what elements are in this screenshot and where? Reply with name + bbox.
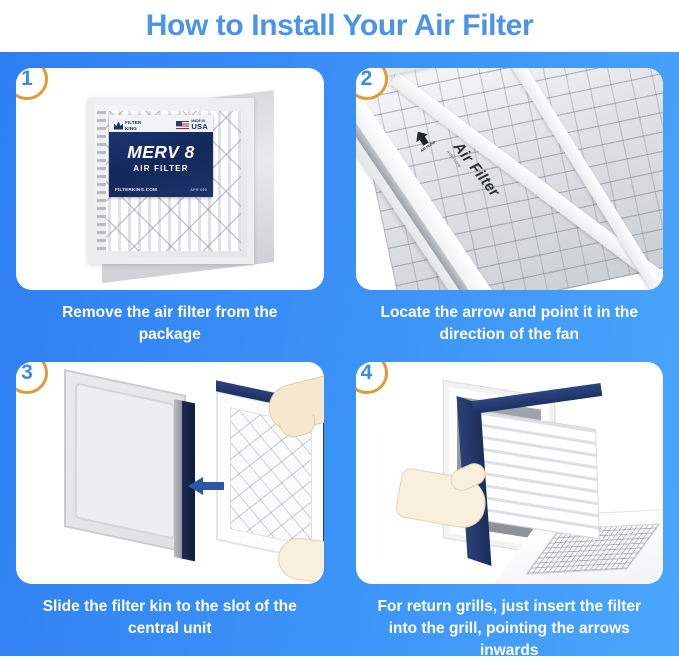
air-filter-product-photo: FILTER KING MADE IN USA bbox=[88, 90, 274, 262]
usa-flag-icon bbox=[176, 121, 189, 129]
step-2-illustration: AIR FLOW Air Filter AIRFLOW bbox=[356, 68, 664, 290]
step-1-illustration: FILTER KING MADE IN USA bbox=[16, 68, 324, 290]
apr-label: APR 650 bbox=[190, 188, 207, 192]
steps-grid: FILTER KING MADE IN USA bbox=[0, 52, 679, 656]
brand-line-1: FILTER bbox=[125, 120, 141, 125]
header-band: How to Install Your Air Filter bbox=[0, 0, 679, 52]
step-4-caption: For return grills, just insert the filte… bbox=[356, 596, 664, 662]
step-3-illustration bbox=[16, 362, 324, 584]
central-unit-slot bbox=[182, 401, 195, 562]
product-label: FILTER KING MADE IN USA bbox=[109, 115, 213, 197]
filter-side-ribs bbox=[97, 111, 106, 251]
page-title: How to Install Your Air Filter bbox=[146, 11, 533, 41]
label-header-strip: FILTER KING MADE IN USA bbox=[109, 115, 213, 132]
return-grill-louvers bbox=[480, 410, 600, 539]
filter-king-logo: FILTER KING bbox=[114, 120, 141, 131]
website-label: FILTERKING.COM bbox=[115, 187, 157, 192]
label-footer-strip: FILTERKING.COM APR 650 bbox=[109, 187, 213, 192]
made-in-usa-badge: MADE IN USA bbox=[176, 120, 208, 131]
filter-corner-photo: AIR FLOW Air Filter AIRFLOW bbox=[356, 68, 664, 290]
crown-icon bbox=[114, 122, 123, 130]
country-label: USA bbox=[191, 123, 208, 131]
step-4-card: 4 bbox=[356, 362, 664, 584]
step-4-illustration bbox=[356, 362, 664, 584]
made-in-usa-text: MADE IN USA bbox=[191, 120, 208, 131]
infographic-root: How to Install Your Air Filter bbox=[0, 0, 679, 656]
step-2-card: AIR FLOW Air Filter AIRFLOW 2 bbox=[356, 68, 664, 290]
filter-front-face: FILTER KING MADE IN USA bbox=[88, 98, 254, 264]
step-1-caption: Remove the air filter from the package bbox=[16, 302, 324, 346]
brand-name: FILTER KING bbox=[125, 120, 141, 131]
product-type-label: AIR FILTER bbox=[109, 165, 213, 173]
step-4: 4 For return grills, just insert the fil… bbox=[340, 346, 679, 662]
merv-rating: MERV 8 bbox=[109, 144, 213, 162]
step-3-caption: Slide the filter kin to the slot of the … bbox=[16, 596, 324, 640]
step-1: FILTER KING MADE IN USA bbox=[0, 52, 340, 346]
step-1-card: FILTER KING MADE IN USA bbox=[16, 68, 324, 290]
central-unit-body bbox=[64, 369, 186, 553]
step-2-caption: Locate the arrow and point it in the dir… bbox=[356, 302, 664, 346]
step-3-card: 3 bbox=[16, 362, 324, 584]
central-unit-panel bbox=[75, 382, 175, 539]
brand-line-2: KING bbox=[125, 126, 137, 131]
step-3: 3 Slide the filter kin to the slot of th… bbox=[0, 346, 340, 662]
step-2: AIR FLOW Air Filter AIRFLOW 2 Locate the… bbox=[340, 52, 679, 346]
